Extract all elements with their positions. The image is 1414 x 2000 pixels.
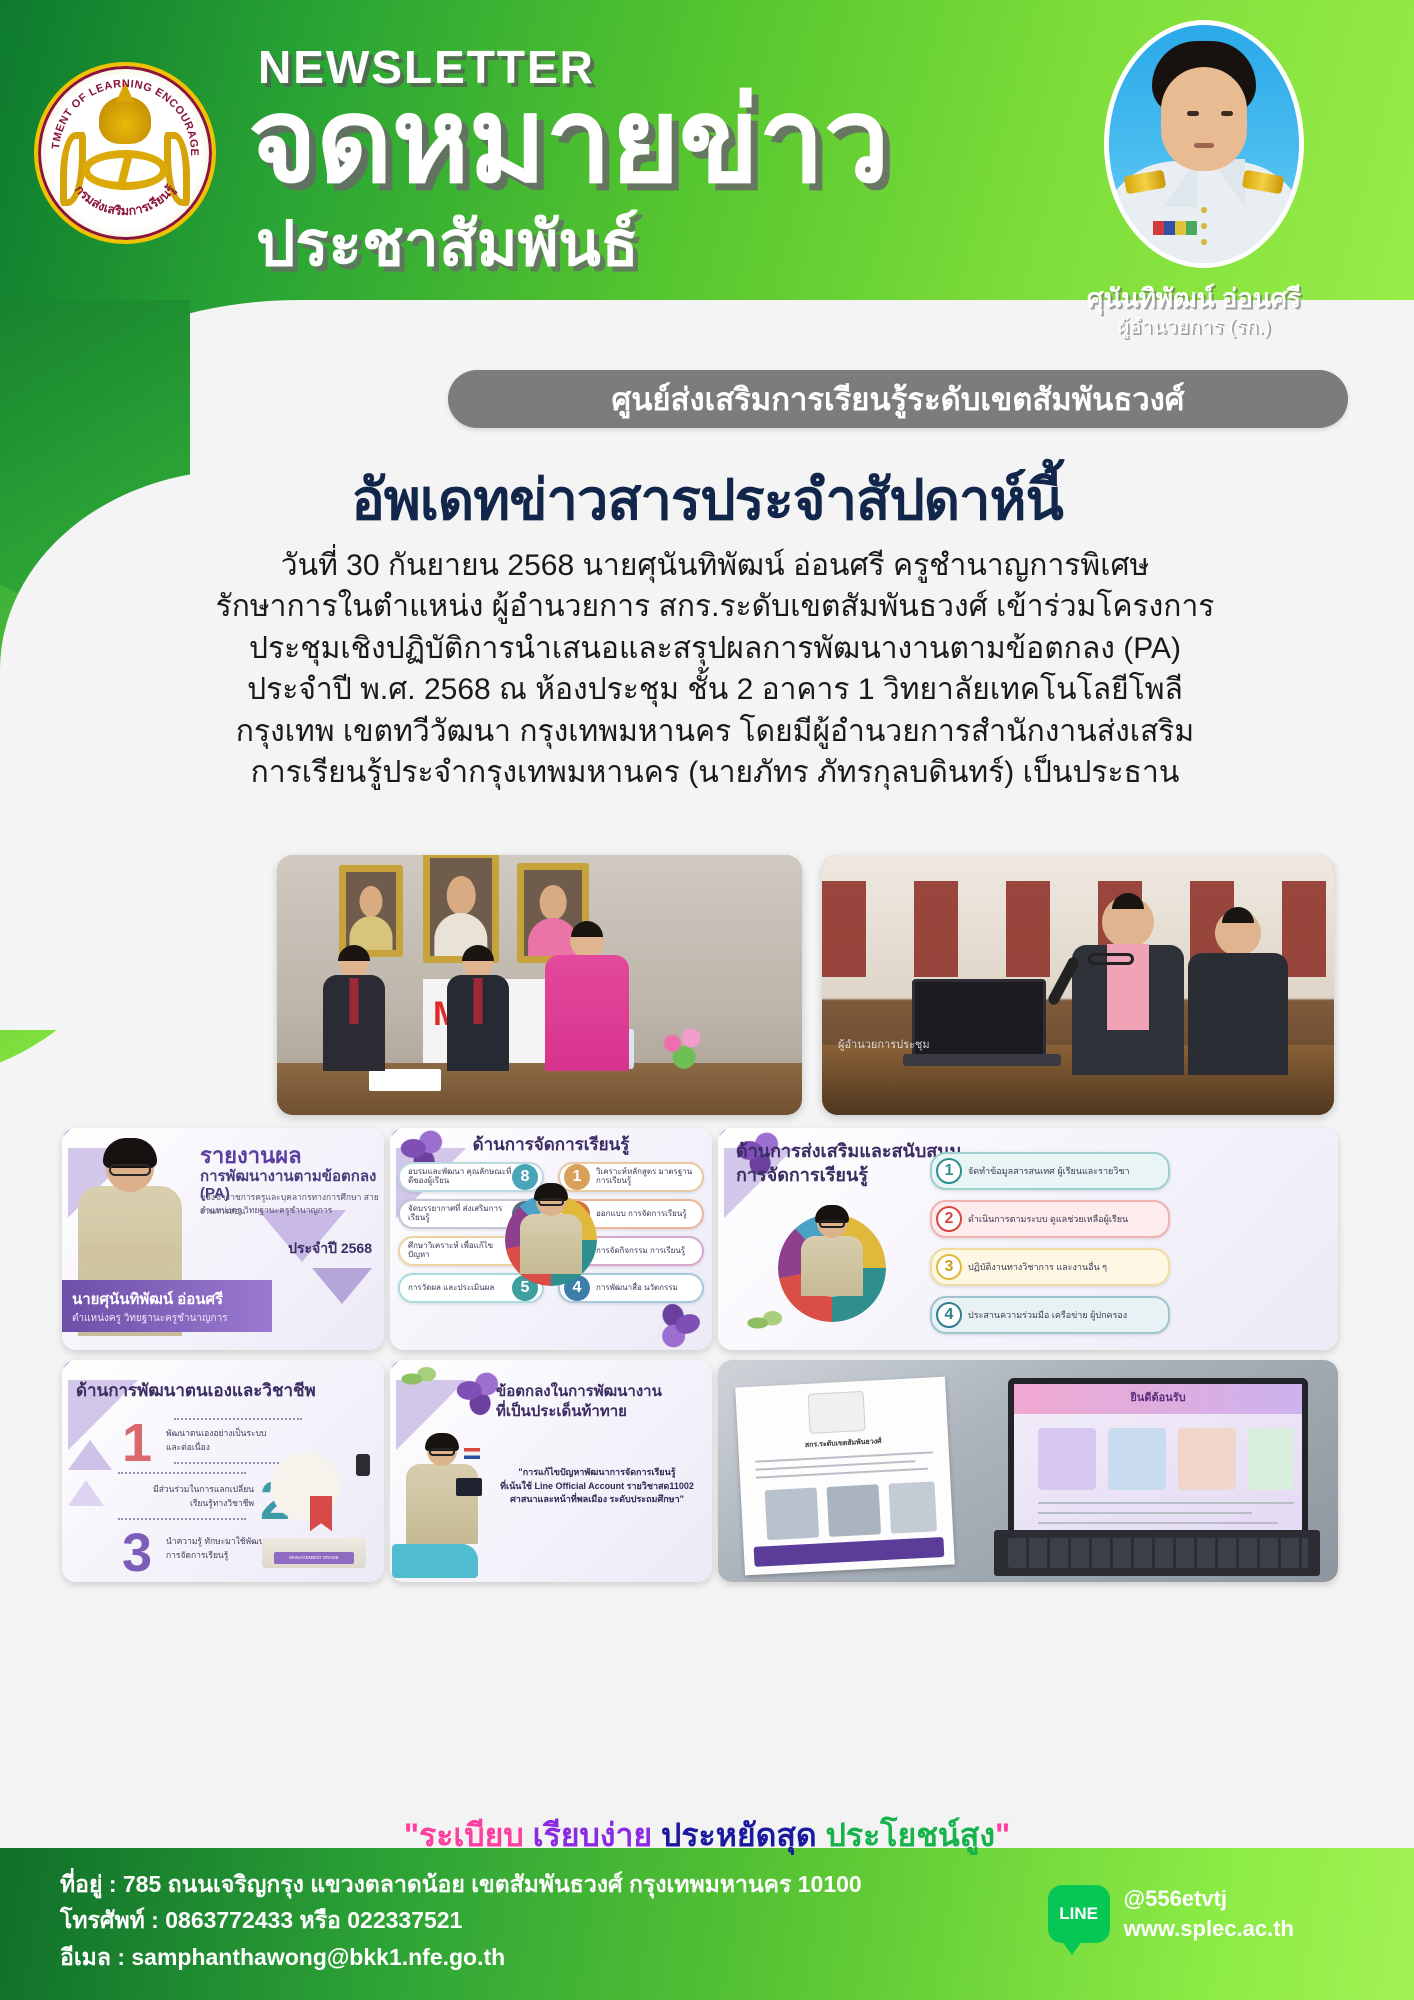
card4-dash-4 (118, 1518, 246, 1520)
card5-title-line1: ข้อตกลงในการพัฒนางาน (496, 1384, 662, 1401)
card3-leaf-icon (744, 1306, 790, 1340)
person-body (323, 975, 385, 1071)
card6-doc-footer-bar (754, 1537, 945, 1567)
card1-triangle-2 (312, 1268, 372, 1304)
figure-body (801, 1236, 863, 1296)
card1-name-banner: นายศุนันทิพัฒน์ อ่อนศรี ตำแหน่งครู วิทยฐ… (62, 1280, 272, 1332)
card3-title-line1: ด้านการส่งเสริมและสนับสนุน (736, 1142, 962, 1162)
slogan-word-3: ประหยัดสุด (661, 1817, 817, 1853)
person-head (570, 924, 604, 958)
slogan-word-1: ระเบียบ (419, 1817, 524, 1853)
card4-item-3-text-line2: การจัดการเรียนรู้ (166, 1548, 228, 1562)
body-line-1: วันที่ 30 กันยายน 2568 นายศุนันทิพัฒน์ อ… (180, 545, 1250, 586)
contact-info: ที่อยู่ : 785 ถนนเจริญกรุง แขวงตลาดน้อย … (60, 1866, 960, 1975)
slogan-word-2: เรียบง่าย (533, 1817, 653, 1853)
card3-item-3-number: 3 (936, 1254, 962, 1280)
card6-screen-welcome-label: ยินดีต้อนรับ (1014, 1388, 1302, 1406)
card1-name-badge: นายศุนันทิพัฒน์ อ่อนศรี (72, 1287, 272, 1311)
line-contact-block[interactable]: LINE @556etvtj www.splec.ac.th (1048, 1884, 1294, 1943)
card4-item-2-text-line1: มีส่วนร่วมในการแลกเปลี่ยน (124, 1482, 254, 1496)
card5-thai-flag-icon (464, 1448, 480, 1459)
photo1-nameplate (369, 1069, 441, 1091)
card3-item-3-text: ปฏิบัติงานทางวิชาการ และงานอื่น ๆ (962, 1262, 1160, 1272)
card2-item-5-text: การวัดผล และประเมินผล (408, 1284, 512, 1293)
meeting-photo-2[interactable]: ผู้อำนวยการประชุม (822, 855, 1334, 1115)
page-headline: อัพเดทข่าวสารประจำสัปดาห์นี้ (0, 455, 1414, 544)
card3-item-3[interactable]: ปฏิบัติงานทางวิชาการ และงานอื่น ๆ 3 (930, 1248, 1170, 1286)
person-hair (1112, 893, 1144, 909)
line-contact-text: @556etvtj www.splec.ac.th (1124, 1884, 1294, 1943)
newsletter-page: DEPARTMENT OF LEARNING ENCOURAGEMENT กรม… (0, 0, 1414, 2000)
card6-doc-logo (808, 1391, 866, 1434)
director-role: ผู้อำนวยการ (รก.) (1064, 310, 1324, 342)
figure-body (406, 1464, 478, 1544)
card-support-promotion[interactable]: ด้านการส่งเสริมและสนับสนุน การจัดการเรีย… (718, 1128, 1338, 1350)
card2-item-1-text: วิเคราะห์หลักสูตร มาตรฐานการเรียนรู้ (590, 1168, 694, 1186)
contact-phone: โทรศัพท์ : 0863772433 หรือ 022337521 (60, 1902, 960, 1938)
portrait-ribbon-bar (1153, 221, 1197, 235)
card4-item-2-text-line2: เรียนรู้ทางวิชาชีพ (124, 1496, 254, 1510)
newsletter-subtitle-thai: ประชาสัมพันธ์ (256, 195, 639, 293)
card-challenge-agreement[interactable]: ข้อตกลงในการพัฒนางาน ที่เป็นประเด็นท้าทา… (390, 1360, 712, 1582)
card1-arms (78, 1242, 182, 1268)
contact-email: อีเมล : samphanthawong@bkk1.nfe.go.th (60, 1939, 960, 1975)
card1-role-badge: ตำแหน่งครู วิทยฐานะครูชำนาญการ (72, 1311, 272, 1326)
card6-tablet-screen[interactable]: ยินดีต้อนรับ (1008, 1378, 1308, 1554)
person-hair (1222, 907, 1254, 923)
card4-triangle-1 (68, 1440, 112, 1470)
card6-screen-line (1038, 1502, 1294, 1504)
photo2-second-person (1188, 910, 1288, 1075)
card4-item-3-number: 3 (122, 1526, 152, 1580)
card5-quote-line2: ที่เน้นใช้ Line Official Account รายวิชา… (490, 1480, 704, 1494)
card1-year-label: ประจำปี 2568 (288, 1238, 372, 1260)
line-icon[interactable]: LINE (1048, 1885, 1110, 1943)
card2-item-4[interactable]: การพัฒนาสื่อ นวัตกรรม 4 (558, 1273, 704, 1303)
photo1-person-2 (447, 948, 509, 1071)
card6-doc-photo-3 (888, 1481, 937, 1533)
card4-bookmark-icon (310, 1496, 332, 1540)
card3-title-line2: การจัดการเรียนรู้ (736, 1166, 868, 1186)
card2-item-5[interactable]: การวัดผล และประเมินผล 5 (398, 1273, 544, 1303)
meeting-photo-1[interactable]: MO (277, 855, 802, 1115)
photo2-podium-sign: ผู้อำนวยการประชุม (838, 1035, 930, 1053)
card1-title-line1: รายงานผล (200, 1144, 302, 1168)
news-body-text: วันที่ 30 กันยายน 2568 นายศุนันทิพัฒน์ อ… (180, 545, 1250, 793)
photo2-glasses-icon (1088, 953, 1134, 965)
card4-title: ด้านการพัฒนาตนเองและวิชาชีพ (76, 1382, 316, 1401)
slogan-open-quote: " (404, 1817, 419, 1853)
director-portrait (1104, 20, 1304, 268)
card5-laptop-icon (456, 1478, 482, 1496)
contact-address: ที่อยู่ : 785 ถนนเจริญกรุง แขวงตลาดน้อย … (60, 1866, 960, 1902)
card2-item-8-text: อบรมและพัฒนา คุณลักษณะที่ดีของผู้เรียน (408, 1168, 512, 1186)
card5-leaf-icon (398, 1362, 444, 1396)
body-line-6: การเรียนรู้ประจำกรุงเทพมหานคร (นายภัทร ภ… (180, 752, 1250, 793)
person-head (1215, 910, 1261, 956)
card1-subtitle-line2: ตำแหน่งครู วิทยฐานะครูชำนาญการ (200, 1203, 332, 1217)
card2-item-6-text: ศึกษาวิเคราะห์ เพื่อแก้ไขปัญหา (408, 1242, 512, 1260)
card6-screen-card-1 (1038, 1428, 1096, 1490)
card5-cyan-shape (392, 1544, 478, 1578)
card4-item-1-number: 1 (122, 1416, 152, 1470)
card2-item-4-text: การพัฒนาสื่อ นวัตกรรม (590, 1284, 694, 1293)
person-hair (462, 945, 494, 961)
card3-item-1[interactable]: จัดทำข้อมูลสารสนเทศ ผู้เรียนและรายวิชา 1 (930, 1152, 1170, 1190)
card-desk-photo[interactable]: สกร.ระดับเขตสัมพันธวงศ์ ยินดีต้อนรับ (718, 1360, 1338, 1582)
card3-teacher-figure (792, 1208, 872, 1308)
card3-item-4-number: 4 (936, 1302, 962, 1328)
organization-name-pill: ศูนย์ส่งเสริมการเรียนรู้ระดับเขตสัมพันธว… (448, 370, 1348, 428)
card6-printed-document: สกร.ระดับเขตสัมพันธวงศ์ (735, 1377, 955, 1576)
card2-teacher-figure (516, 1186, 586, 1274)
card1-glasses-icon (109, 1164, 151, 1176)
card6-doc-photo-1 (765, 1488, 820, 1541)
frame-face (540, 885, 567, 919)
card4-triangle-2 (68, 1480, 104, 1506)
photo1-person-3 (545, 924, 629, 1071)
figure-body (520, 1214, 582, 1274)
card-learning-management[interactable]: ด้านการจัดการเรียนรู้ อบรมและพัฒนา คุณลั… (390, 1128, 712, 1350)
card5-title-line2: ที่เป็นประเด็นท้าทาย (496, 1404, 627, 1421)
logo-ring-text-th: กรมส่งเสริมการเรียนรู้ (72, 182, 179, 218)
card3-item-2-text: ดำเนินการตามระบบ ดูแลช่วยเหลือผู้เรียน (962, 1214, 1160, 1224)
card-pa-report-cover[interactable]: รายงานผล การพัฒนางานตามข้อตกลง (PA) ของข… (62, 1128, 384, 1350)
card4-phone-icon (356, 1454, 370, 1476)
slogan-word-4: ประโยชน์สูง (826, 1817, 995, 1853)
card5-quote-line3: ศาสนาและหน้าที่พลเมือง ระดับประถมศึกษา" (490, 1493, 704, 1507)
photo1-flower-vase (655, 1025, 713, 1071)
card5-quote-line1: "การแก้ไขปัญหาพัฒนาการจัดการเรียนรู้ (490, 1466, 704, 1480)
slogan-close-quote: " (995, 1817, 1010, 1853)
body-line-3: ประชุมเชิงปฏิบัติการนำเสนอและสรุปผลการพั… (180, 628, 1250, 669)
card3-item-4[interactable]: ประสานความร่วมมือ เครือข่าย ผู้ปกครอง 4 (930, 1296, 1170, 1334)
card6-doc-header: สกร.ระดับเขตสัมพันธวงศ์ (748, 1433, 938, 1454)
portrait-eye-right (1221, 111, 1233, 116)
svg-text:กรมส่งเสริมการเรียนรู้: กรมส่งเสริมการเรียนรู้ (72, 182, 179, 218)
card6-screen-card-3 (1178, 1428, 1236, 1490)
body-line-5: กรุงเทพ เขตทวีวัฒนา กรุงเทพมหานคร โดยมีผ… (180, 711, 1250, 752)
figure-glasses-icon (538, 1198, 564, 1206)
card6-keyboard-keys (1008, 1538, 1308, 1568)
figure-glasses-icon (429, 1448, 455, 1456)
website-url: www.splec.ac.th (1124, 1914, 1294, 1944)
logo-ring-text: DEPARTMENT OF LEARNING ENCOURAGEMENT กรม… (38, 66, 212, 240)
person-head (463, 948, 493, 978)
slogan-line: "ระเบียบ เรียบง่าย ประหยัดสุด ประโยชน์สู… (0, 1810, 1414, 1861)
newsletter-title-thai: จดหมายข่าว (248, 82, 889, 200)
card3-item-1-text: จัดทำข้อมูลสารสนเทศ ผู้เรียนและรายวิชา (962, 1166, 1160, 1176)
person-body (1188, 953, 1288, 1075)
body-line-2: รักษาการในตำแหน่ง ผู้อำนวยการ สกร.ระดับเ… (180, 586, 1250, 627)
portrait-eye-left (1187, 111, 1199, 116)
card3-item-4-text: ประสานความร่วมมือ เครือข่าย ผู้ปกครอง (962, 1310, 1160, 1320)
person-hair (338, 945, 370, 961)
person-hair (571, 921, 603, 937)
frame-face (447, 876, 476, 915)
card6-screen-line (1038, 1522, 1278, 1524)
portrait-face (1161, 67, 1247, 171)
portrait-buttons (1201, 207, 1207, 251)
card2-item-3-text: การจัดกิจกรรม การเรียนรู้ (590, 1247, 694, 1256)
photo-row: MO (0, 855, 1414, 1115)
photo2-laptop (912, 979, 1046, 1057)
card4-objects-collage: MANAGEMENT GRADE (258, 1448, 376, 1576)
card5-quote: "การแก้ไขปัญหาพัฒนาการจัดการเรียนรู้ ที่… (490, 1466, 704, 1507)
person-body (545, 955, 629, 1071)
card6-screen-card-4 (1248, 1428, 1294, 1490)
person-body (447, 975, 509, 1071)
card2-title: ด้านการจัดการเรียนรู้ (390, 1136, 712, 1155)
card6-screen-line (1038, 1512, 1252, 1514)
card6-doc-photo-2 (827, 1484, 882, 1537)
card3-item-2[interactable]: ดำเนินการตามระบบ ดูแลช่วยเหลือผู้เรียน 2 (930, 1200, 1170, 1238)
body-line-4: ประจำปี พ.ศ. 2568 ณ ห้องประชุม ชั้น 2 อา… (180, 669, 1250, 710)
portrait-mouth (1194, 143, 1214, 148)
card4-item-1-text-line2: และต่อเนื่อง (166, 1440, 210, 1454)
card4-book-label: MANAGEMENT GRADE (274, 1552, 354, 1564)
card-self-development[interactable]: ด้านการพัฒนาตนเองและวิชาชีพ 1 พัฒนาตนเอง… (62, 1360, 384, 1582)
person-head (339, 948, 369, 978)
line-id: @556etvtj (1124, 1884, 1294, 1914)
card6-screen-card-2 (1108, 1428, 1166, 1490)
person-tie (350, 978, 359, 1024)
photo1-royal-portrait-1 (339, 865, 403, 957)
frame-face (360, 886, 383, 917)
photo1-person-1 (323, 948, 385, 1071)
card3-item-1-number: 1 (936, 1158, 962, 1184)
card4-dash-3 (118, 1472, 246, 1474)
figure-glasses-icon (819, 1220, 845, 1228)
department-logo: DEPARTMENT OF LEARNING ENCOURAGEMENT กรม… (34, 62, 216, 244)
photo2-speaker-person (1072, 896, 1184, 1075)
person-head (1102, 896, 1154, 948)
card3-pill-list: จัดทำข้อมูลสารสนเทศ ผู้เรียนและรายวิชา 1… (930, 1152, 1170, 1341)
card2-item-2-text: ออกแบบ การจัดการเรียนรู้ (590, 1210, 694, 1219)
card4-dash-1 (174, 1418, 302, 1420)
photo1-royal-portrait-2 (423, 855, 499, 963)
card2-item-7-text: จัดบรรยากาศที่ ส่งเสริมการเรียนรู้ (408, 1205, 512, 1223)
card4-item-3-text-line1: นำความรู้ ทักษะมาใช้พัฒนา (166, 1534, 269, 1548)
person-tie (474, 978, 483, 1024)
card4-item-1-text-line1: พัฒนาตนเองอย่างเป็นระบบ (166, 1426, 266, 1440)
card3-item-2-number: 2 (936, 1206, 962, 1232)
